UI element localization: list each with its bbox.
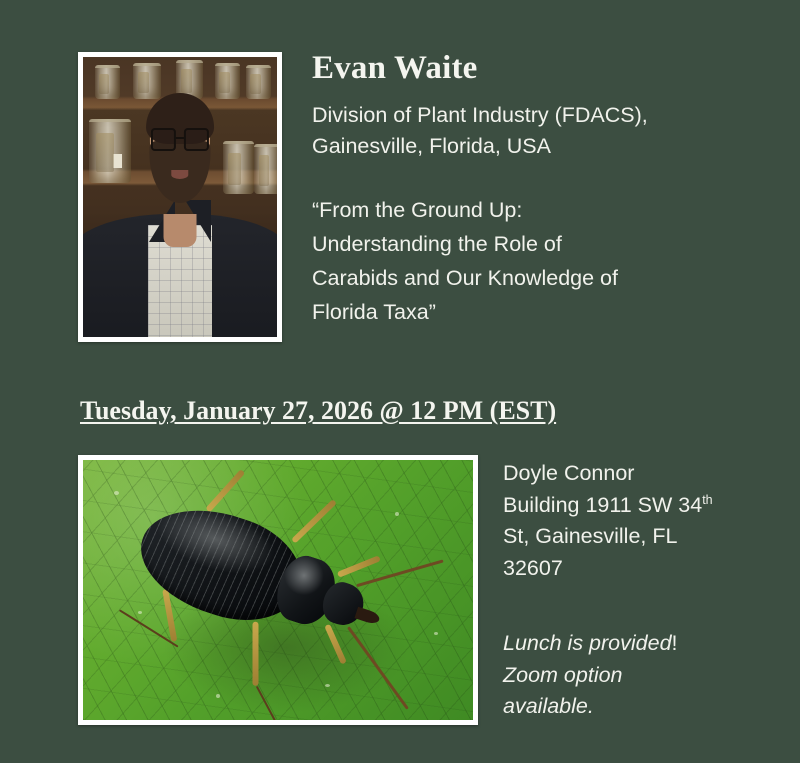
- eyeglass-bridge: [176, 137, 184, 140]
- leaf-speck: [216, 694, 220, 698]
- venue-line-4: 32607: [503, 553, 753, 585]
- speaker-name: Evan Waite: [312, 50, 478, 87]
- leaf-speck: [325, 684, 330, 687]
- affiliation-line-1: Division of Plant Industry (FDACS),: [312, 100, 712, 131]
- venue-address: Doyle Connor Building 1911 SW 34th St, G…: [503, 458, 753, 584]
- speaker-portrait-image: [83, 57, 277, 337]
- talk-title-line-2: Understanding the Role of: [312, 227, 722, 261]
- specimen-jar: [215, 63, 240, 100]
- leaf-speck: [395, 512, 399, 516]
- jar-label: [113, 154, 122, 168]
- note-lunch-text: Lunch is provided: [503, 631, 672, 655]
- specimen-jar: [89, 119, 132, 184]
- note-zoom-text-2: available.: [503, 694, 594, 718]
- speaker-affiliation: Division of Plant Industry (FDACS), Gain…: [312, 100, 712, 162]
- neck: [164, 214, 197, 248]
- note-zoom-text-1: Zoom option: [503, 663, 623, 687]
- venue-line-2: Building 1911 SW 34th: [503, 490, 753, 522]
- affiliation-line-2: Gainesville, Florida, USA: [312, 131, 712, 162]
- specimen-jar: [133, 63, 160, 100]
- beetle-leg: [336, 555, 380, 577]
- note-zoom-line-2: available.: [503, 691, 753, 723]
- venue-ordinal-suffix: th: [702, 492, 712, 506]
- speaker-portrait-photo: [78, 52, 282, 342]
- talk-title-line-4: Florida Taxa”: [312, 295, 722, 329]
- specimen-jar: [246, 65, 271, 99]
- specimen-jar: [223, 141, 254, 194]
- beetle-mandible: [354, 607, 380, 626]
- event-datetime: Tuesday, January 27, 2026 @ 12 PM (EST): [80, 396, 556, 426]
- event-notes: Lunch is provided! Zoom option available…: [503, 628, 753, 723]
- beetle-leg: [252, 621, 258, 685]
- beetle-leg: [324, 624, 347, 665]
- note-zoom-line-1: Zoom option: [503, 660, 753, 692]
- talk-title: “From the Ground Up: Understanding the R…: [312, 193, 722, 329]
- leaf-background: [83, 460, 473, 720]
- venue-line-3: St, Gainesville, FL: [503, 521, 753, 553]
- beetle-image: [83, 460, 473, 720]
- note-lunch: Lunch is provided!: [503, 628, 753, 660]
- specimen-jar: [254, 144, 277, 195]
- beetle-photo: [78, 455, 478, 725]
- eyeglasses-icon: [151, 128, 209, 150]
- eyeglass-lens-left: [151, 128, 176, 150]
- leaf-speck: [434, 632, 438, 635]
- note-lunch-exclamation: !: [672, 631, 678, 655]
- talk-title-line-3: Carabids and Our Knowledge of: [312, 261, 722, 295]
- venue-line-1: Doyle Connor: [503, 458, 753, 490]
- eyeglass-lens-right: [184, 128, 209, 150]
- portrait-background-shelves: [83, 57, 277, 337]
- specimen-jar: [95, 65, 120, 99]
- talk-title-line-1: “From the Ground Up:: [312, 193, 722, 227]
- venue-street-number: Building 1911 SW 34: [503, 493, 702, 517]
